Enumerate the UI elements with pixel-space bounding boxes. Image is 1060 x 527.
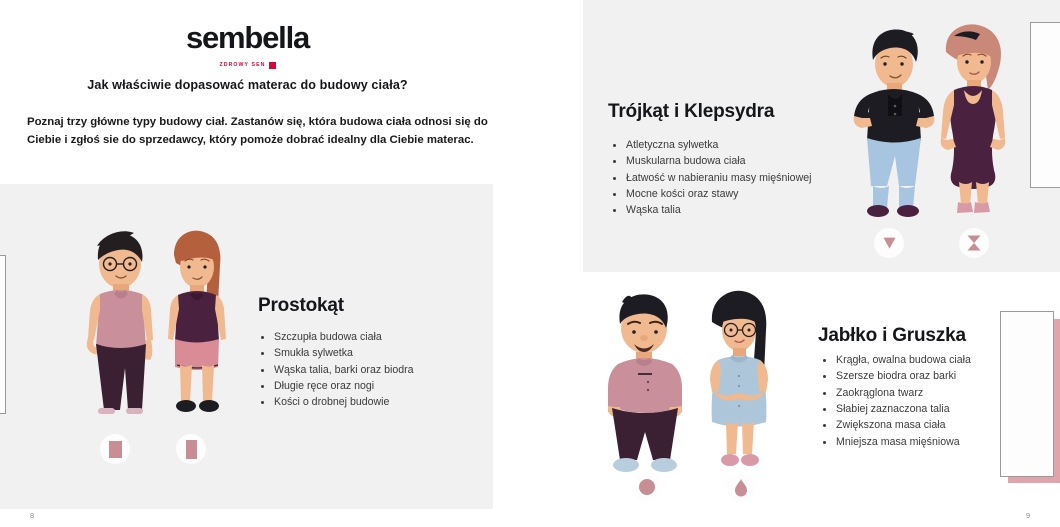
brand-tagline-group: ZDROWY SEN (219, 62, 275, 69)
list-item: Wąska talia, barki oraz biodra (258, 362, 414, 378)
page-number-right: 9 (1026, 511, 1030, 520)
bullet-list-prostokat: Szczupła budowa ciała Smukła sylwetka Wą… (258, 329, 414, 411)
brand-square-icon (269, 62, 276, 69)
rectangle-section-panel (0, 184, 493, 509)
page-number-left: 8 (30, 511, 34, 520)
list-item: Szczupła budowa ciała (258, 329, 414, 345)
shape-badge-apple (632, 472, 662, 502)
apple-circle-icon (638, 478, 656, 496)
shape-badge-rectangle-2 (176, 434, 206, 464)
list-item: Smukła sylwetka (258, 345, 414, 361)
shape-badge-pear (726, 472, 756, 502)
brand-logo: sembella ZDROWY SEN (0, 22, 495, 71)
bullet-list-trojkat: Atletyczna sylwetka Muskularna budowa ci… (610, 137, 811, 219)
page-title: Jak właściwie dopasować materac do budow… (0, 78, 495, 92)
list-item: Kości o drobnej budowie (258, 394, 414, 410)
rectangle-tall-icon (185, 439, 198, 460)
illustration-rectangle-female (160, 229, 232, 421)
intro-paragraph: Poznaj trzy główne typy budowy ciał. Zas… (27, 113, 489, 150)
list-item: Zwiększona masa ciała (820, 417, 971, 433)
presentation-spread: sembella ZDROWY SEN Jak właściwie dopaso… (0, 0, 1060, 527)
section-title-prostokat: Prostokąt (258, 295, 344, 317)
illustration-rectangle-male (78, 224, 164, 420)
illustration-apple-male (600, 288, 690, 476)
list-item: Długie ręce oraz nogi (258, 378, 414, 394)
decorative-frame-left (0, 255, 6, 414)
decorative-frame-bottom-right (1000, 311, 1054, 477)
triangle-down-icon (881, 235, 898, 252)
illustration-hourglass-female (934, 22, 1012, 218)
list-item: Słabiej zaznaczona talia (820, 401, 971, 417)
list-item: Muskularna budowa ciała (610, 153, 811, 169)
illustration-triangle-male (852, 22, 936, 218)
shape-badge-rectangle-1 (100, 434, 130, 464)
shape-badge-triangle (874, 228, 904, 258)
rectangle-icon (108, 440, 123, 459)
brand-name: sembella (0, 22, 495, 53)
list-item: Łatwość w nabieraniu masy mięśniowej (610, 170, 811, 186)
section-title-trojkat: Trójkąt i Klepsydra (608, 101, 774, 123)
list-item: Mocne kości oraz stawy (610, 186, 811, 202)
decorative-frame-top-right (1030, 22, 1060, 188)
list-item: Szersze biodra oraz barki (820, 368, 971, 384)
list-item: Atletyczna sylwetka (610, 137, 811, 153)
illustration-pear-female (702, 288, 778, 474)
pear-drop-icon (733, 478, 749, 497)
list-item: Krągła, owalna budowa ciała (820, 352, 971, 368)
brand-tagline: ZDROWY SEN (219, 62, 265, 68)
list-item: Zaokrąglona twarz (820, 385, 971, 401)
list-item: Wąska talia (610, 202, 811, 218)
bullet-list-jablko: Krągła, owalna budowa ciała Szersze biod… (820, 352, 971, 450)
list-item: Mniejsza masa mięśniowa (820, 434, 971, 450)
section-title-jablko: Jabłko i Gruszka (818, 325, 966, 347)
slide-page-8: sembella ZDROWY SEN Jak właściwie dopaso… (0, 0, 495, 527)
hourglass-icon (966, 234, 982, 252)
shape-badge-hourglass (959, 228, 989, 258)
